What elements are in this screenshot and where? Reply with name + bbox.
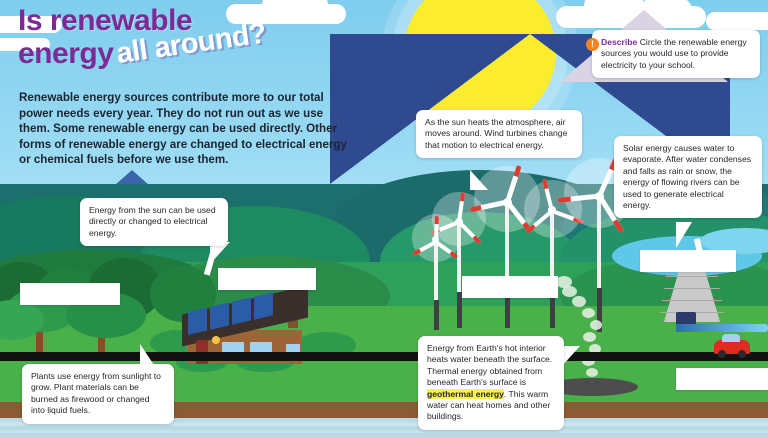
steam-puff [586, 368, 598, 377]
car-wheel [738, 350, 746, 358]
road [0, 352, 768, 361]
hydro-callout: Solar energy causes water to evaporate. … [614, 136, 762, 218]
dam-detail-line [666, 276, 718, 277]
steam-puff [572, 296, 586, 307]
wind-turbine [416, 218, 456, 330]
solar-callout: Energy from the sun can be used directly… [80, 198, 228, 246]
wind-callout-tail [470, 170, 488, 190]
car-wheel [718, 350, 726, 358]
hydro-callout-tail [676, 222, 692, 248]
intro-paragraph: Renewable energy sources contribute more… [19, 90, 354, 168]
page-title: Is renewable energyall around? [18, 6, 358, 71]
river-outflow [676, 324, 768, 332]
steam-puff [583, 332, 596, 342]
blank-wind[interactable] [462, 276, 558, 298]
wind-callout: As the sun heats the atmosphere, air mov… [416, 110, 582, 158]
dam-detail-line [664, 288, 720, 289]
steam-puff [590, 320, 602, 330]
infographic-canvas: Is renewable energyall around? Renewable… [0, 0, 768, 438]
steam-puff [582, 308, 595, 318]
blank-solar[interactable] [218, 268, 316, 290]
biomass-callout: Plants use energy from sunlight to grow.… [22, 364, 174, 424]
steam-puff [556, 276, 572, 288]
blank-geothermal[interactable] [676, 368, 768, 390]
blank-hydro[interactable] [640, 250, 736, 272]
geothermal-callout: Energy from Earth's hot interior heats w… [418, 336, 564, 430]
mountain-navy [330, 34, 530, 184]
porch-light-icon [212, 336, 220, 344]
blank-biomass[interactable] [20, 283, 120, 305]
aquifer-stripe [0, 430, 768, 433]
dam-detail-line [662, 300, 722, 301]
describe-callout: ! Describe Circle the renewable energy s… [592, 30, 760, 78]
describe-label: Describe [601, 37, 637, 47]
alert-icon: ! [586, 38, 599, 51]
geothermal-text-part1: Energy from Earth's hot interior heats w… [427, 343, 552, 387]
geothermal-term: geothermal energy [427, 389, 504, 399]
car-window [722, 334, 740, 342]
title-line-2: energy [18, 39, 113, 69]
geothermal-callout-tail [562, 346, 580, 366]
